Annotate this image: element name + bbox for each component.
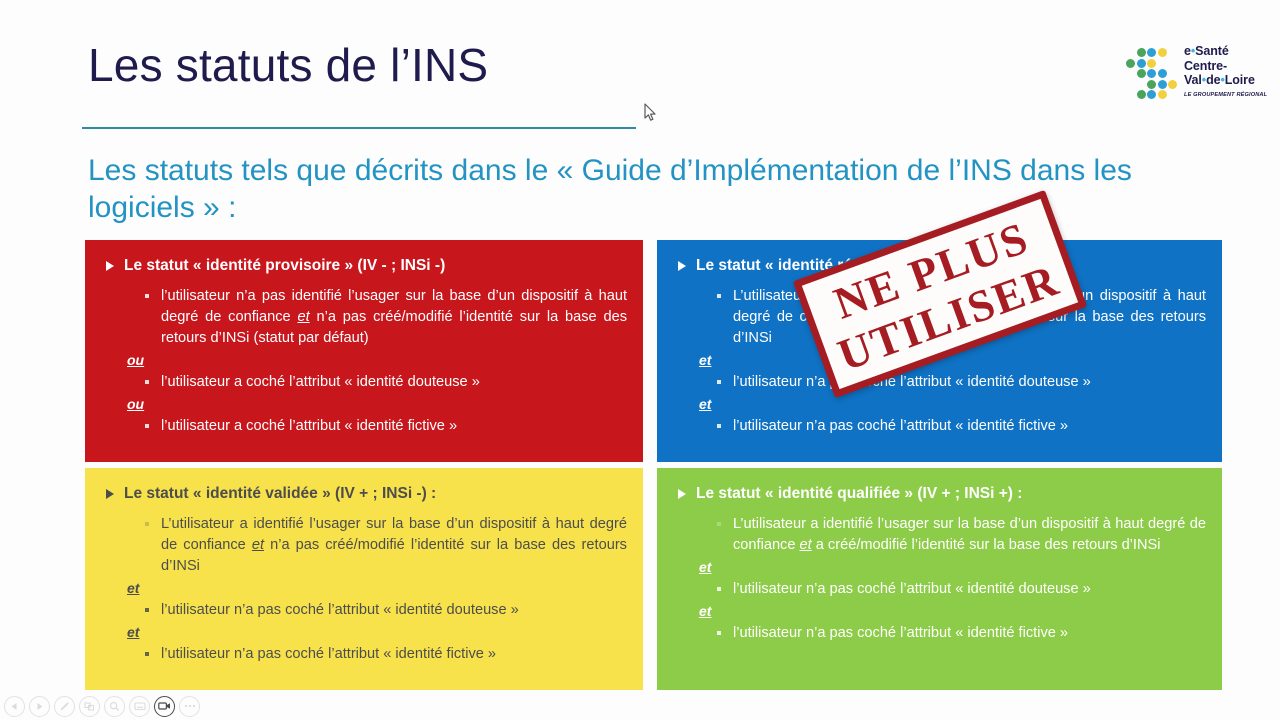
square-bullet-icon	[717, 587, 721, 591]
list-item-text: l’utilisateur n’a pas coché l’attribut «…	[161, 644, 627, 665]
status-panel-identite-provisoire: Le statut « identité provisoire » (IV - …	[85, 240, 643, 462]
list-item: L’utilisateur a identifié l’usager sur l…	[145, 514, 627, 577]
list-item-text: l’utilisateur a coché l’attribut « ident…	[161, 416, 627, 437]
logo-line-3: Val•de•Loire	[1184, 73, 1276, 88]
list-item-text: l’utilisateur n’a pas coché l’attribut «…	[733, 623, 1206, 644]
logo-dot	[1158, 48, 1167, 57]
camera-button[interactable]	[154, 696, 175, 717]
panel-heading: Le statut « identité provisoire » (IV - …	[101, 256, 627, 276]
brand-logo: e•Santé Centre- Val•de•Loire LE GROUPEME…	[1126, 44, 1274, 106]
list-item: l’utilisateur n’a pas coché l’attribut «…	[717, 372, 1206, 393]
square-bullet-icon	[717, 294, 721, 298]
panel-body: L’utilisateur a identifié l’usager sur l…	[673, 514, 1206, 644]
conjunction-label: ou	[127, 351, 627, 369]
logo-dot	[1147, 48, 1156, 57]
conjunction-label: ou	[127, 395, 627, 413]
mouse-cursor-icon	[644, 103, 657, 122]
logo-dot	[1158, 90, 1167, 99]
panel-heading-text: Le statut « identité validée » (IV + ; I…	[124, 484, 436, 504]
ellipsis-icon	[184, 704, 196, 708]
square-bullet-icon	[145, 380, 149, 384]
slide-canvas: Les statuts de l’INS e•Santé Centre- Val…	[0, 0, 1280, 720]
more-options-button[interactable]	[179, 696, 200, 717]
logo-dot	[1126, 59, 1135, 68]
conjunction-label: et	[699, 558, 1206, 576]
logo-dot-matrix-icon	[1126, 48, 1180, 102]
conjunction-label: et	[127, 579, 627, 597]
list-item-text: l’utilisateur n’a pas coché l’attribut «…	[733, 579, 1206, 600]
subtitles-button[interactable]	[129, 696, 150, 717]
square-bullet-icon	[145, 294, 149, 298]
logo-dot	[1168, 80, 1177, 89]
list-item: l’utilisateur n’a pas coché l’attribut «…	[717, 416, 1206, 437]
triangle-bullet-icon	[106, 489, 114, 499]
list-item: l’utilisateur n’a pas coché l’attribut «…	[717, 623, 1206, 644]
panel-body: l’utilisateur n’a pas identifié l’usager…	[101, 286, 627, 437]
square-bullet-icon	[717, 631, 721, 635]
list-item: l’utilisateur n’a pas coché l’attribut «…	[145, 600, 627, 621]
logo-dot	[1137, 48, 1146, 57]
panel-heading-text: Le statut « identité provisoire » (IV - …	[124, 256, 445, 276]
list-item-text: l’utilisateur n’a pas coché l’attribut «…	[733, 372, 1206, 393]
caption-icon	[134, 701, 146, 711]
list-item-text: l’utilisateur n’a pas coché l’attribut «…	[161, 600, 627, 621]
logo-dot	[1137, 90, 1146, 99]
grid-icon	[84, 701, 95, 712]
logo-dot	[1147, 59, 1156, 68]
pen-icon	[59, 701, 70, 712]
title-underline-rule	[82, 127, 636, 129]
player-toolbar	[0, 692, 1280, 720]
logo-dot	[1147, 69, 1156, 78]
list-item-text: l’utilisateur n’a pas coché l’attribut «…	[733, 416, 1206, 437]
logo-line-2: Centre-	[1184, 59, 1276, 74]
previous-slide-button[interactable]	[4, 696, 25, 717]
square-bullet-icon	[717, 522, 721, 526]
list-item-text: L’utilisateur a identifié l’usager sur l…	[733, 514, 1206, 556]
list-item: l’utilisateur n’a pas coché l’attribut «…	[717, 579, 1206, 600]
logo-wordmark: e•Santé Centre- Val•de•Loire LE GROUPEME…	[1184, 44, 1276, 99]
panel-heading-text: Le statut « identité qualifiée » (IV + ;…	[696, 484, 1022, 504]
conjunction-label: et	[699, 602, 1206, 620]
list-item: l’utilisateur n’a pas coché l’attribut «…	[145, 644, 627, 665]
logo-line-1: e•Santé	[1184, 44, 1276, 59]
magnifier-icon	[109, 701, 120, 712]
page-title: Les statuts de l’INS	[88, 38, 488, 92]
square-bullet-icon	[145, 608, 149, 612]
status-panel-identite-validee: Le statut « identité validée » (IV + ; I…	[85, 468, 643, 690]
list-item-text: l’utilisateur n’a pas identifié l’usager…	[161, 286, 627, 349]
triangle-left-icon	[10, 702, 19, 711]
pen-tool-button[interactable]	[54, 696, 75, 717]
square-bullet-icon	[717, 424, 721, 428]
logo-dot	[1137, 69, 1146, 78]
zoom-tool-button[interactable]	[104, 696, 125, 717]
logo-dot	[1137, 59, 1146, 68]
triangle-bullet-icon	[678, 261, 686, 271]
list-item: l’utilisateur a coché l’attribut « ident…	[145, 416, 627, 437]
square-bullet-icon	[145, 652, 149, 656]
logo-dot	[1158, 69, 1167, 78]
slide-thumbnails-button[interactable]	[79, 696, 100, 717]
panel-heading: Le statut « identité validée » (IV + ; I…	[101, 484, 627, 504]
camera-icon	[158, 701, 171, 711]
triangle-right-icon	[35, 702, 44, 711]
list-item: L’utilisateur a identifié l’usager sur l…	[717, 514, 1206, 556]
panel-body: L’utilisateur a identifié l’usager sur l…	[101, 514, 627, 665]
logo-dot	[1158, 80, 1167, 89]
list-item-text: L’utilisateur a identifié l’usager sur l…	[161, 514, 627, 577]
square-bullet-icon	[145, 522, 149, 526]
panel-heading: Le statut « identité qualifiée » (IV + ;…	[673, 484, 1206, 504]
play-slide-button[interactable]	[29, 696, 50, 717]
conjunction-label: et	[127, 623, 627, 641]
triangle-bullet-icon	[106, 261, 114, 271]
conjunction-label: et	[699, 395, 1206, 413]
logo-dot	[1147, 80, 1156, 89]
square-bullet-icon	[717, 380, 721, 384]
list-item: l’utilisateur a coché l’attribut « ident…	[145, 372, 627, 393]
logo-dot	[1147, 90, 1156, 99]
status-panel-identite-qualifiee: Le statut « identité qualifiée » (IV + ;…	[657, 468, 1222, 690]
list-item-text: l’utilisateur a coché l’attribut « ident…	[161, 372, 627, 393]
logo-tagline: LE GROUPEMENT RÉGIONAL	[1184, 91, 1276, 99]
triangle-bullet-icon	[678, 489, 686, 499]
square-bullet-icon	[145, 424, 149, 428]
list-item: l’utilisateur n’a pas identifié l’usager…	[145, 286, 627, 349]
